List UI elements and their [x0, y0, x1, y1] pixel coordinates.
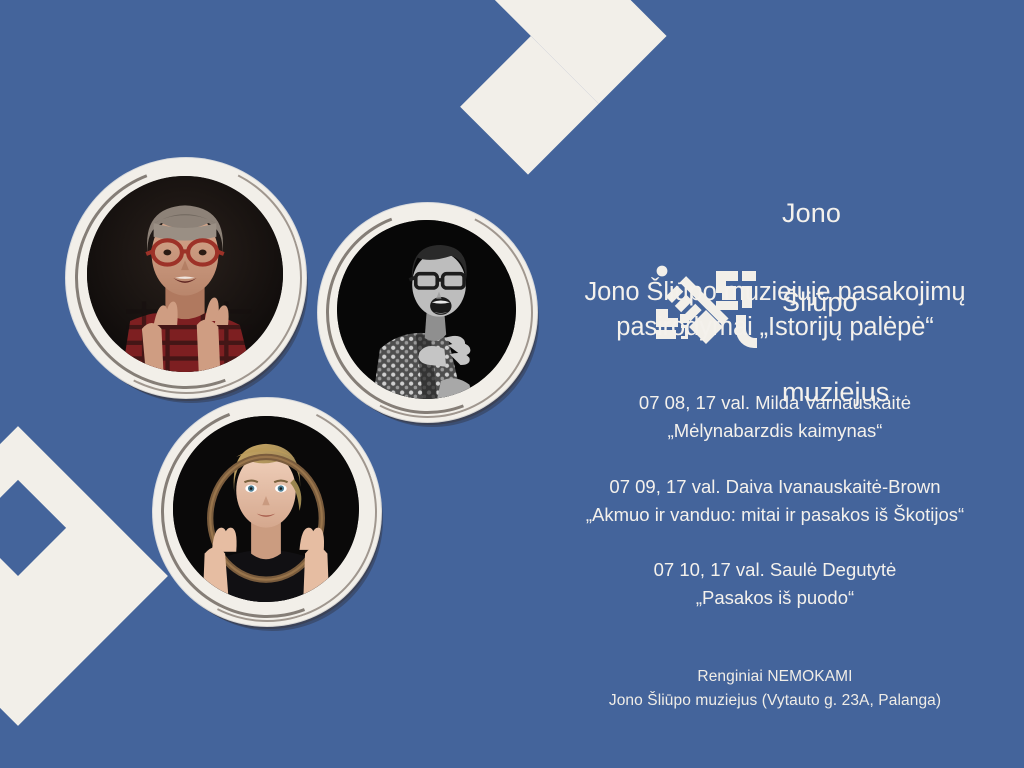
headline-line-1: Jono Šliūpo muziejuje pasakojimų — [540, 275, 1010, 310]
page-title: Jono Šliūpo muziejuje pasakojimų pasirod… — [540, 275, 1010, 345]
event-datetime-performer: 07 10, 17 val. Saulė Degutytė — [540, 556, 1010, 584]
poster-canvas: Jono Šliūpo muziejus Jono Šliūpo muzieju… — [0, 0, 1024, 768]
event-datetime-performer: 07 08, 17 val. Milda Varnauskaitė — [540, 389, 1010, 417]
headline-line-2: pasirodymai „Istorijų palėpė“ — [540, 310, 1010, 345]
portrait-photo — [173, 416, 359, 602]
portrait-milda-varnauskaite — [66, 158, 306, 398]
event-list: 07 08, 17 val. Milda Varnauskaitė „Mėlyn… — [540, 389, 1010, 612]
list-item: 07 10, 17 val. Saulė Degutytė „Pasakos i… — [540, 556, 1010, 612]
event-title: „Akmuo ir vanduo: mitai ir pasakos iš Šk… — [540, 501, 1010, 529]
deco-notched-square-top — [389, 0, 666, 175]
list-item: 07 09, 17 val. Daiva Ivanauskaitė-Brown … — [540, 473, 1010, 529]
footer-venue-address: Jono Šliūpo muziejus (Vytauto g. 23A, Pa… — [540, 689, 1010, 713]
event-title: „Mėlynabarzdis kaimynas“ — [540, 417, 1010, 445]
poster-footer: Renginiai NEMOKAMI Jono Šliūpo muziejus … — [540, 665, 1010, 713]
footer-admission-note: Renginiai NEMOKAMI — [540, 665, 1010, 689]
portrait-daiva-ivanauskaite-brown — [318, 203, 537, 422]
portrait-saule-degutyte — [153, 398, 381, 626]
portrait-photo — [337, 220, 516, 399]
event-datetime-performer: 07 09, 17 val. Daiva Ivanauskaitė-Brown — [540, 473, 1010, 501]
logo-line-1: Jono — [782, 199, 889, 229]
poster-text-column: Jono Šliūpo muziejuje pasakojimų pasirod… — [540, 275, 1010, 713]
deco-diamond-outline-bottom-left — [0, 426, 168, 726]
list-item: 07 08, 17 val. Milda Varnauskaitė „Mėlyn… — [540, 389, 1010, 445]
portrait-photo — [87, 176, 283, 372]
event-title: „Pasakos iš puodo“ — [540, 584, 1010, 612]
